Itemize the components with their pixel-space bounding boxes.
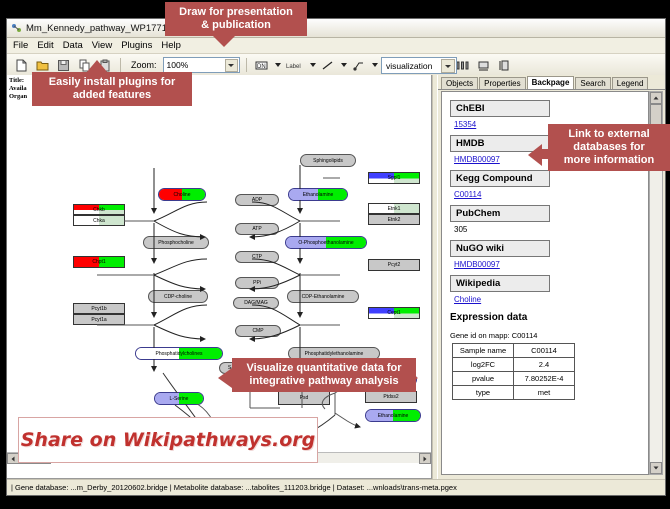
callout-plugins: Easily install plugins foradded features — [32, 72, 192, 106]
node-label: Etnk2 — [388, 217, 401, 223]
interaction-dropdown-icon[interactable] — [372, 63, 378, 67]
wikipedia-link[interactable]: Choline — [454, 295, 640, 304]
zoom-label: Zoom: — [131, 60, 157, 70]
node-label: CTP — [252, 254, 262, 260]
canvas-label-availab: Availa — [9, 85, 27, 93]
new-file-icon[interactable] — [12, 56, 30, 74]
row-label: type — [453, 386, 514, 400]
callout-plugins-tail — [86, 60, 108, 73]
zoom-combobox[interactable]: 100% — [163, 57, 240, 73]
status-bar: | Gene database: ...m_Derby_20120602.bri… — [7, 479, 665, 495]
table-row: Sample name C00114 — [453, 344, 575, 358]
node-label: L-Serine — [170, 396, 189, 402]
menu-help[interactable]: Help — [161, 40, 181, 51]
node-label: PPi — [253, 280, 261, 286]
screenshot-root: Mm_Kennedy_pathway_WP1771_45176.gpml Fil… — [0, 0, 670, 509]
menu-bar: File Edit Data View Plugins Help — [7, 38, 665, 54]
canvas-label-organism: Organ — [9, 93, 27, 101]
canvas-label-title: Title: — [9, 77, 27, 85]
node-label: ATP — [252, 226, 261, 232]
table-row: pvalue 7.80252E-4 — [453, 372, 575, 386]
toolbar-separator-2 — [246, 58, 247, 72]
menu-edit[interactable]: Edit — [37, 40, 53, 51]
node-label: Sphingolipids — [313, 158, 343, 164]
callout-visualize: Visualize quantitative data forintegrati… — [232, 358, 416, 392]
node-label: ADP — [252, 197, 262, 203]
node-label: Pcyt2 — [388, 262, 401, 268]
section-nugo: NuGO wiki HMDB00097 — [450, 238, 640, 269]
line-tool-icon[interactable] — [319, 56, 337, 74]
status-text: | Gene database: ...m_Derby_20120602.bri… — [11, 483, 457, 492]
node-label: Phosphocholine — [158, 240, 194, 246]
label-dropdown-icon[interactable] — [310, 63, 316, 67]
side-panel-tabs: Objects Properties Backpage Search Legen… — [438, 75, 665, 90]
metabolite-node-o-phosphoethanolamine[interactable]: O-Phosphoethanolamine — [285, 236, 367, 249]
kegg-link[interactable]: C00114 — [454, 190, 640, 199]
menu-file[interactable]: File — [13, 40, 28, 51]
section-wikipedia: Wikipedia Choline — [450, 273, 640, 304]
node-label: Etnk1 — [388, 206, 401, 212]
menu-data[interactable]: Data — [63, 40, 83, 51]
visualization-combobox[interactable]: visualization — [381, 57, 457, 74]
node-label: Chkb — [93, 207, 105, 213]
interaction-tool-icon[interactable] — [350, 56, 368, 74]
gene-node-sgpl1[interactable]: Sgpl1 — [368, 172, 420, 184]
gene-node-etnk1[interactable]: Etnk1 — [368, 203, 420, 214]
expression-data-title: Expression data — [450, 312, 640, 323]
pubchem-value: 305 — [454, 225, 640, 234]
menu-plugins[interactable]: Plugins — [121, 40, 152, 51]
chevron-down-icon[interactable] — [225, 59, 238, 72]
node-label: Phosphatidylethanolamine — [305, 351, 364, 357]
node-label: Choline — [174, 192, 191, 198]
gene-node-chka[interactable]: Chka — [73, 215, 125, 226]
node-label: Psd — [300, 395, 309, 401]
node-label: Ptdss2 — [383, 394, 398, 400]
node-label: Chpt1 — [92, 259, 105, 265]
visualization-chevron-down-icon[interactable] — [441, 59, 455, 73]
app-icon — [11, 23, 22, 34]
canvas-info-labels: Title: Availa Organ — [9, 77, 27, 101]
callout-draw-tail — [212, 35, 236, 47]
chebi-header: ChEBI — [450, 100, 550, 117]
scroll-down-icon[interactable] — [650, 462, 662, 474]
menu-view[interactable]: View — [92, 40, 112, 51]
line-dropdown-icon[interactable] — [341, 63, 347, 67]
table-row: log2FC 2.4 — [453, 358, 575, 372]
callout-visualize-tail-left — [218, 368, 232, 388]
tab-properties[interactable]: Properties — [479, 77, 525, 89]
callout-draw: Draw for presentation& publication — [165, 2, 307, 36]
section-pubchem: PubChem 305 — [450, 203, 640, 234]
callout-visualize-tail-right — [404, 368, 418, 388]
row-value: 2.4 — [514, 358, 575, 372]
node-label: Phosphatidylcholines — [156, 351, 203, 357]
row-label: Sample name — [453, 344, 514, 358]
node-label: Pcyt1a — [91, 317, 106, 323]
node-label: CDP-Ethanolamine — [302, 294, 345, 300]
row-value: C00114 — [514, 344, 575, 358]
tab-backpage[interactable]: Backpage — [527, 76, 575, 89]
callout-plugins-text: Easily install plugins foradded features — [38, 76, 186, 102]
expression-table: Sample name C00114 log2FC 2.4 pvalue 7.8… — [452, 343, 575, 400]
callout-draw-text: Draw for presentation& publication — [171, 6, 301, 32]
metabolite-node-l-serine-left[interactable]: L-Serine — [154, 392, 204, 405]
table-row: type met — [453, 386, 575, 400]
callout-links-text: Link to externaldatabases formore inform… — [554, 128, 664, 167]
nugo-header: NuGO wiki — [450, 240, 550, 257]
node-label: Sgpl1 — [388, 175, 401, 181]
callout-links: Link to externaldatabases formore inform… — [548, 124, 670, 171]
node-label: Pcyt1b — [91, 306, 106, 312]
label-tool-icon[interactable]: Label — [284, 56, 306, 74]
metabolite-node-phosphatidylcholines[interactable]: Phosphatidylcholines — [135, 347, 223, 360]
zoom-value: 100% — [167, 60, 189, 70]
pubchem-header: PubChem — [450, 205, 550, 222]
row-value: met — [514, 386, 575, 400]
wikipedia-header: Wikipedia — [450, 275, 550, 292]
datanode-dropdown-icon[interactable] — [275, 63, 281, 67]
kegg-header: Kegg Compound — [450, 170, 550, 187]
common-height-icon[interactable] — [496, 56, 514, 74]
node-label: Ethanolamine — [378, 413, 409, 419]
datanode-tool-icon[interactable]: DN — [253, 56, 271, 74]
node-label: CMP — [252, 328, 263, 334]
common-width-icon[interactable] — [475, 56, 493, 74]
toolbar-separator — [120, 58, 121, 72]
node-label: Cept1 — [387, 310, 400, 316]
visualization-value: visualization — [386, 61, 432, 71]
gene-node-cept1[interactable]: Cept1 — [368, 307, 420, 319]
node-label: O-Phosphoethanolamine — [298, 240, 353, 246]
node-label: CDP-choline — [164, 294, 192, 300]
metabolite-node-choline-top[interactable]: Choline — [158, 188, 206, 201]
gene-node-chpt1[interactable]: Chpt1 — [73, 256, 125, 268]
callout-visualize-text: Visualize quantitative data forintegrati… — [238, 362, 410, 388]
row-label: pvalue — [453, 372, 514, 386]
svg-text:DN: DN — [257, 64, 266, 70]
node-label: DAG/MAG — [244, 300, 268, 306]
metabolite-node-ethanolamine-top[interactable]: Ethanolamine — [288, 188, 348, 201]
gene-node-chkb[interactable]: Chkb — [73, 204, 125, 215]
metabolite-node-ethanolamine-bottom[interactable]: Ethanolamine — [365, 409, 421, 422]
share-banner: Share on Wikipathways.org — [18, 417, 318, 463]
tab-search[interactable]: Search — [575, 77, 610, 89]
title-bar: Mm_Kennedy_pathway_WP1771_45176.gpml — [7, 19, 665, 38]
share-banner-text: Share on Wikipathways.org — [21, 429, 315, 451]
row-value: 7.80252E-4 — [514, 372, 575, 386]
section-kegg: Kegg Compound C00114 — [450, 168, 640, 199]
gene-id-line: Gene id on mapp: C00114 — [450, 331, 640, 340]
nugo-link[interactable]: HMDB00097 — [454, 260, 640, 269]
scroll-up-icon[interactable] — [650, 92, 662, 104]
svg-text:Label: Label — [286, 64, 301, 70]
node-label: Ethanolamine — [303, 192, 334, 198]
callout-links-tail — [528, 144, 542, 166]
tab-legend[interactable]: Legend — [612, 77, 649, 89]
row-label: log2FC — [453, 358, 514, 372]
tab-objects[interactable]: Objects — [441, 77, 478, 89]
node-label: Chka — [93, 218, 105, 224]
